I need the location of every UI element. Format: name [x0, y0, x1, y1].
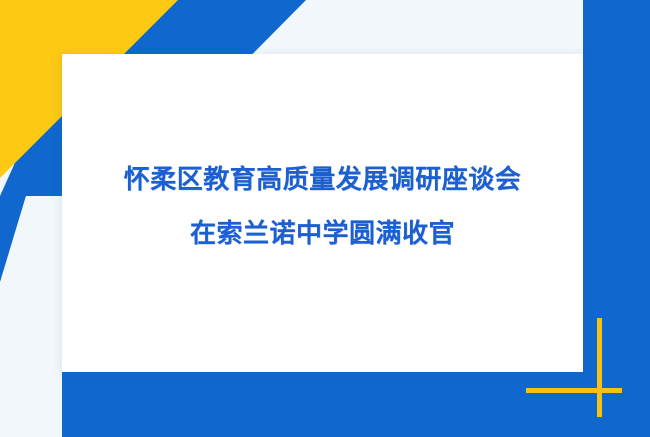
- poster-canvas: 怀柔区教育高质量发展调研座谈会 在索兰诺中学圆满收官: [0, 0, 650, 437]
- headline-line-1: 怀柔区教育高质量发展调研座谈会: [62, 166, 583, 192]
- plus-mark-vertical-bar: [597, 318, 602, 417]
- content-card: 怀柔区教育高质量发展调研座谈会 在索兰诺中学圆满收官: [62, 54, 583, 372]
- headline-block: 怀柔区教育高质量发展调研座谈会 在索兰诺中学圆满收官: [62, 166, 583, 260]
- plus-mark: [526, 318, 650, 418]
- headline-line-2: 在索兰诺中学圆满收官: [62, 220, 583, 246]
- plus-mark-horizontal-bar: [526, 388, 622, 393]
